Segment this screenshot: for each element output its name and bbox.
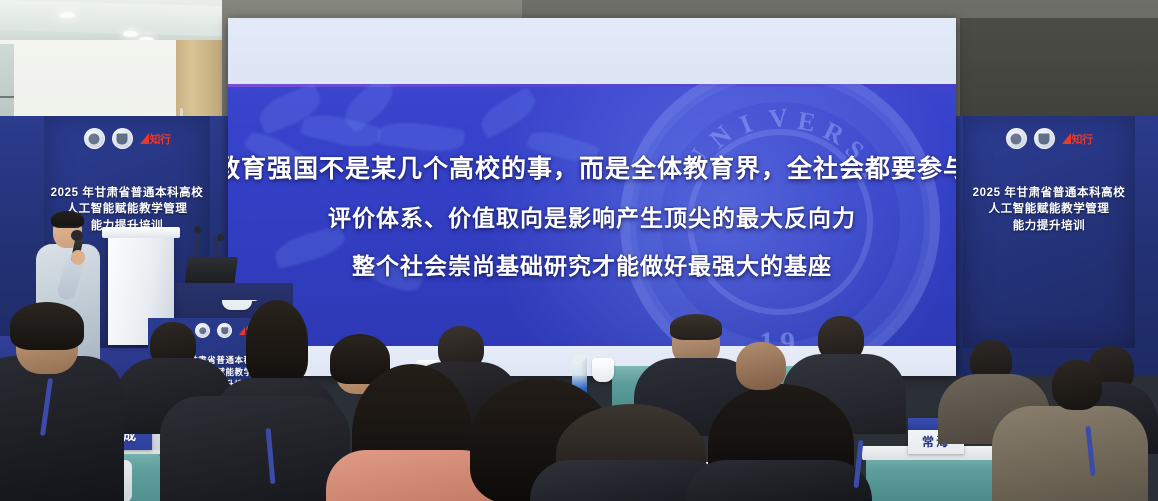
desk-mic-head-icon [194, 226, 201, 233]
conference-hall-scene: 知行 2025 年甘肃省普通本科高校 人工智能赋能教学管理 能力提升培训 知行 … [0, 0, 1158, 501]
banner-right-title-line-3: 能力提升培训 [963, 218, 1135, 234]
slide-line-2: 评价体系、价值取向是影响产生顶尖的最大反向力 [328, 199, 856, 233]
teacup [592, 358, 614, 382]
red-logo-text: 知行 [150, 131, 171, 147]
audience-member-body [0, 356, 124, 501]
audience-member-hair [10, 302, 84, 350]
institution-seal-icon [1034, 128, 1055, 149]
banner-right-title-line-1: 2025 年甘肃省普通本科高校 [963, 185, 1135, 201]
red-brand-logo: 知行 [1062, 131, 1093, 147]
banner-left-title-line-1: 2025 年甘肃省普通本科高校 [44, 185, 210, 201]
red-logo-text: 知行 [1072, 131, 1093, 147]
audience-member-body [992, 406, 1148, 501]
mic-head-icon [71, 230, 83, 241]
wall-right-panel [960, 18, 1158, 128]
red-brand-logo: 知行 [140, 131, 171, 147]
downlight-icon [123, 31, 138, 37]
bottle-cap [574, 354, 585, 361]
desk-mic-head-icon [217, 234, 224, 241]
screen-top-band [228, 18, 956, 84]
audience-member-hair [246, 300, 308, 384]
teacup-handle [250, 300, 261, 301]
banner-left-logos: 知行 [44, 128, 210, 149]
audience-member-body [160, 396, 350, 501]
institution-seal-icon [112, 128, 133, 149]
speaker-hand [71, 250, 85, 265]
teacup [222, 300, 252, 310]
downlight-icon [60, 12, 75, 18]
slide-line-1: 教育强国不是某几个高校的事，而是全体教育界，全社会都要参与 [228, 149, 956, 185]
slide-line-3: 整个社会崇尚基础研究才能做好最强大的基座 [352, 247, 832, 281]
university-seal-icon [1006, 128, 1027, 149]
audience-member-body [686, 460, 872, 501]
university-seal-icon [84, 128, 105, 149]
audience-member-head [736, 342, 786, 390]
banner-right-logos: 知行 [963, 128, 1135, 149]
audience-member-head [1052, 360, 1102, 410]
audience-member-hair [670, 314, 722, 340]
banner-right-title-line-2: 人工智能赋能教学管理 [963, 201, 1135, 217]
audience-area: 有成 常海 [0, 300, 1158, 501]
